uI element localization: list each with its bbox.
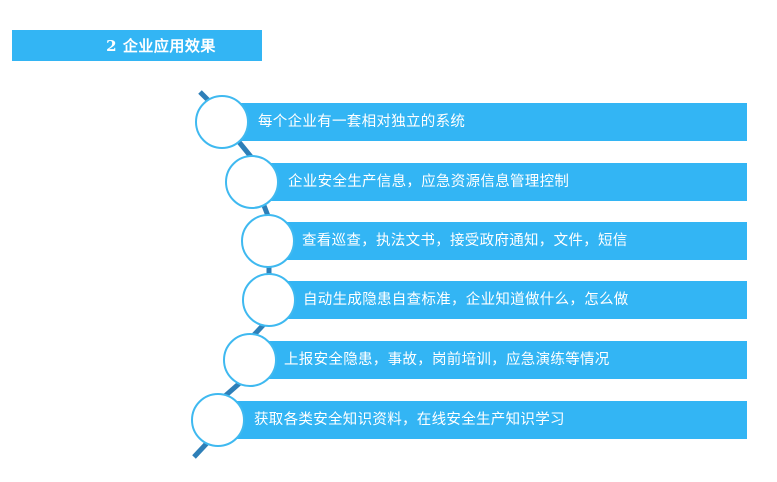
step-bar-1[interactable]: 每个企业有一套相对独立的系统 bbox=[232, 103, 747, 141]
step-circle-1[interactable] bbox=[195, 95, 249, 149]
step-bar-6[interactable]: 获取各类安全知识资料，在线安全生产知识学习 bbox=[228, 401, 747, 439]
step-circle-6[interactable] bbox=[191, 393, 245, 447]
step-label-5: 上报安全隐患，事故，岗前培训，应急演练等情况 bbox=[284, 353, 610, 368]
step-label-4: 自动生成隐患自查标准，企业知道做什么，怎么做 bbox=[303, 293, 629, 308]
step-label-2: 企业安全生产信息，应急资源信息管理控制 bbox=[288, 175, 569, 190]
step-bar-3[interactable]: 查看巡查，执法文书，接受政府通知，文件，短信 bbox=[278, 222, 747, 260]
step-circle-4[interactable] bbox=[242, 273, 296, 327]
step-label-3: 查看巡查，执法文书，接受政府通知，文件，短信 bbox=[302, 234, 628, 249]
step-label-1: 每个企业有一套相对独立的系统 bbox=[258, 115, 465, 130]
step-label-6: 获取各类安全知识资料，在线安全生产知识学习 bbox=[254, 413, 565, 428]
step-circle-3[interactable] bbox=[241, 214, 295, 268]
step-bar-2[interactable]: 企业安全生产信息，应急资源信息管理控制 bbox=[262, 163, 747, 201]
step-circle-5[interactable] bbox=[223, 333, 277, 387]
slide-canvas: 2 企业应用效果 每个企业有一套相对独立的系统企业安全生产信息，应急资源信息管理… bbox=[0, 0, 777, 482]
step-bar-5[interactable]: 上报安全隐患，事故，岗前培训，应急演练等情况 bbox=[260, 341, 747, 379]
step-circle-2[interactable] bbox=[225, 155, 279, 209]
step-bar-4[interactable]: 自动生成隐患自查标准，企业知道做什么，怎么做 bbox=[279, 281, 747, 319]
process-flow-diagram: 每个企业有一套相对独立的系统企业安全生产信息，应急资源信息管理控制查看巡查，执法… bbox=[0, 0, 777, 482]
